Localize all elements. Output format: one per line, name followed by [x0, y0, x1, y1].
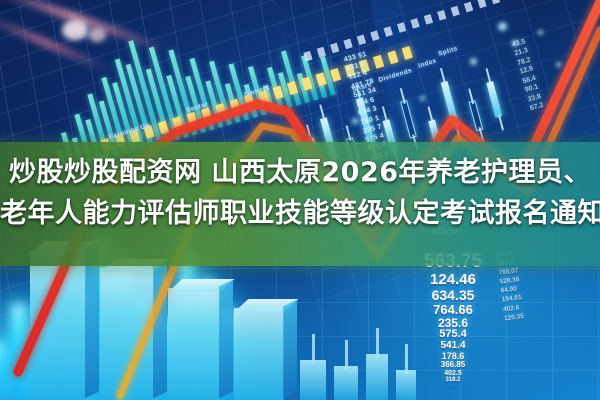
headline-text: 炒股炒股配资网 山西太原2026年养老护理员、 老年人能力评估师职业技能等级认定…: [0, 152, 600, 234]
light-glint: [538, 30, 543, 35]
stock-banner-image: 433 51231 6122 4431 78561 34124 6634 376…: [0, 0, 600, 400]
light-glint: [470, 58, 477, 65]
light-glint: [498, 22, 507, 31]
light-glint: [556, 62, 561, 67]
headline-line-2: 老年人能力评估师职业技能等级认定考试报名通知: [0, 193, 600, 234]
light-glint: [352, 118, 358, 124]
light-glint: [512, 40, 518, 46]
headline-line-1: 炒股炒股配资网 山西太原2026年养老护理员、: [0, 152, 600, 193]
light-glint: [420, 96, 425, 101]
